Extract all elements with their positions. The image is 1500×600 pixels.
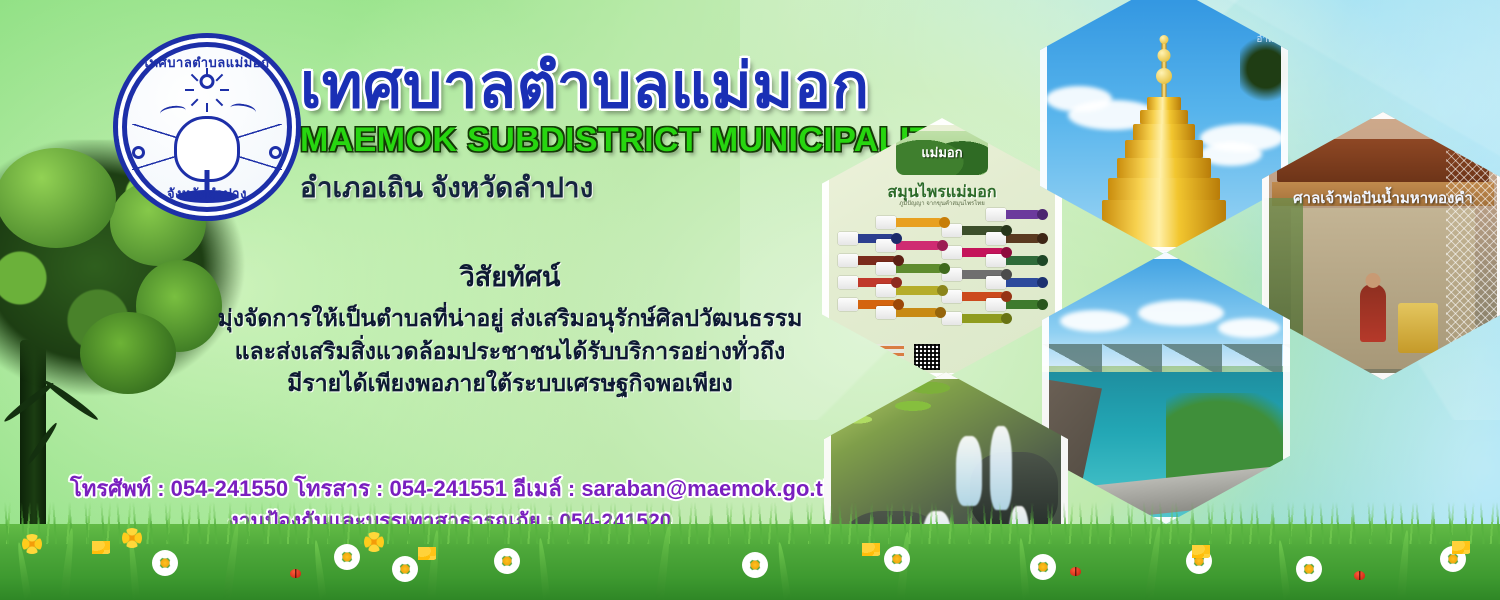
daisy-flower-icon bbox=[152, 550, 178, 576]
butterfly-icon bbox=[862, 543, 880, 556]
daisy-flower-icon bbox=[1296, 556, 1322, 582]
sun-ray-icon bbox=[206, 68, 208, 77]
daisy-flower-icon bbox=[334, 544, 360, 570]
vision-line-2: และส่งเสริมสิ่งแวดล้อมประชาชนได้รับบริกา… bbox=[160, 335, 860, 368]
daisy-flower-icon bbox=[392, 556, 418, 582]
vision-heading: วิสัยทัศน์ bbox=[160, 255, 860, 298]
page-title-thai: เทศบาลตำบลแม่มอก bbox=[300, 55, 1000, 119]
butterfly-icon bbox=[92, 541, 110, 554]
daisy-flower-icon bbox=[884, 546, 910, 572]
bird-icon bbox=[229, 102, 257, 118]
vision-line-1: มุ่งจัดการให้เป็นตำบลที่น่าอยู่ ส่งเสริม… bbox=[160, 302, 860, 335]
daisy-flower-icon bbox=[494, 548, 520, 574]
sun-ray-icon bbox=[215, 74, 223, 82]
contact-line-primary[interactable]: โทรศัพท์ : 054-241550 โทรสาร : 054-24155… bbox=[70, 472, 830, 506]
ladybug-icon bbox=[1354, 571, 1365, 580]
tree-leaf-cluster bbox=[0, 148, 116, 248]
daisy-flower-icon bbox=[742, 552, 768, 578]
sun-ray-icon bbox=[206, 103, 208, 112]
yellow-flower-icon bbox=[22, 534, 42, 554]
sun-ray-icon bbox=[185, 89, 194, 91]
ladybug-icon bbox=[290, 569, 301, 578]
vision-line-3: มีรายได้เพียงพอภายใต้ระบบเศรษฐกิจพอเพียง bbox=[160, 367, 860, 400]
municipality-seal: เทศบาลตำบลแม่มอก จังหวัดลำปาง bbox=[118, 38, 296, 216]
bird-icon bbox=[159, 104, 186, 120]
butterfly-icon bbox=[418, 547, 436, 560]
rosette-icon bbox=[269, 146, 282, 159]
daisy-flower-icon bbox=[1030, 554, 1056, 580]
sun-ray-icon bbox=[191, 74, 199, 82]
grass-blades-layer bbox=[0, 502, 1500, 544]
butterfly-icon bbox=[1452, 541, 1470, 554]
sun-ray-icon bbox=[191, 98, 199, 106]
ladybug-icon bbox=[1070, 567, 1081, 576]
municipality-banner: เทศบาลตำบลแม่มอก จังหวัดลำปาง เทศบาลตำบล… bbox=[0, 0, 1500, 600]
yellow-flower-icon bbox=[122, 528, 142, 548]
yellow-flower-icon bbox=[364, 532, 384, 552]
sun-ray-icon bbox=[215, 98, 223, 106]
butterfly-icon bbox=[1192, 545, 1210, 558]
rosette-icon bbox=[132, 146, 145, 159]
sun-ray-icon bbox=[220, 89, 229, 91]
seal-bottom-text: จังหวัดลำปาง bbox=[118, 183, 296, 204]
vision-block: วิสัยทัศน์ มุ่งจัดการให้เป็นตำบลที่น่าอย… bbox=[160, 255, 860, 400]
